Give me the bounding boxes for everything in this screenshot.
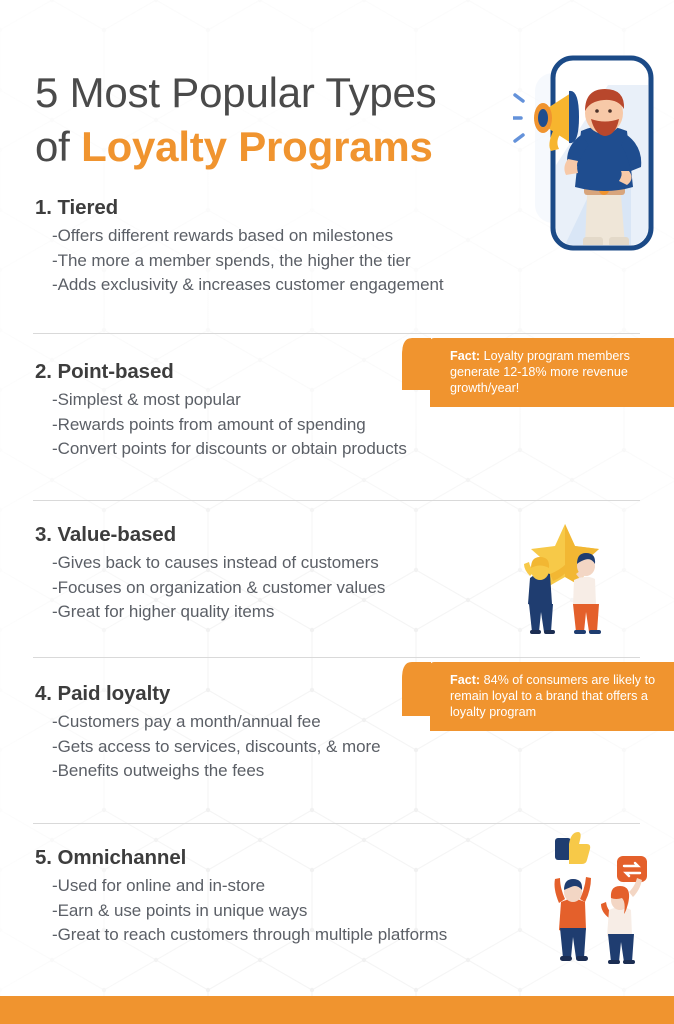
thumbs-up-icon [555, 832, 590, 864]
page-title: 5 Most Popular Types of Loyalty Programs [35, 66, 535, 174]
share-repeat-icon [617, 856, 647, 882]
infographic-page: 5 Most Popular Types of Loyalty Programs [0, 0, 674, 1024]
bottom-accent-bar [0, 996, 674, 1024]
section-bullet: -Adds exclusivity & increases customer e… [52, 276, 635, 295]
two-people-holding-star-illustration [508, 518, 628, 638]
section-bullet: -Benefits outweighs the fees [52, 762, 635, 781]
badge-notch-shape [402, 662, 431, 731]
badge-notch-shape [402, 338, 431, 407]
page-title-line1: 5 Most Popular Types [35, 69, 436, 116]
page-title-line2-accent: Loyalty Programs [81, 123, 433, 170]
fact-label: Fact: [450, 349, 480, 363]
page-title-line2-prefix: of [35, 123, 81, 170]
fact-badge-consumer-loyalty: Fact: 84% of consumers are likely to rem… [430, 662, 674, 731]
section-divider [33, 657, 640, 658]
section-bullet: -Convert points for discounts or obtain … [52, 440, 635, 459]
section-bullet: -Gets access to services, discounts, & m… [52, 738, 635, 757]
section-bullet: -Rewards points from amount of spending [52, 416, 635, 435]
section-divider [33, 823, 640, 824]
section-divider [33, 333, 640, 334]
fact-label: Fact: [450, 673, 480, 687]
man-with-megaphone-in-phone-illustration [513, 45, 658, 260]
fact-badge-revenue-growth: Fact: Loyalty program members generate 1… [430, 338, 674, 407]
section-divider [33, 500, 640, 501]
two-people-with-thumbs-up-and-share-illustration [541, 828, 667, 964]
fact-text: 84% of consumers are likely to remain lo… [450, 673, 655, 719]
